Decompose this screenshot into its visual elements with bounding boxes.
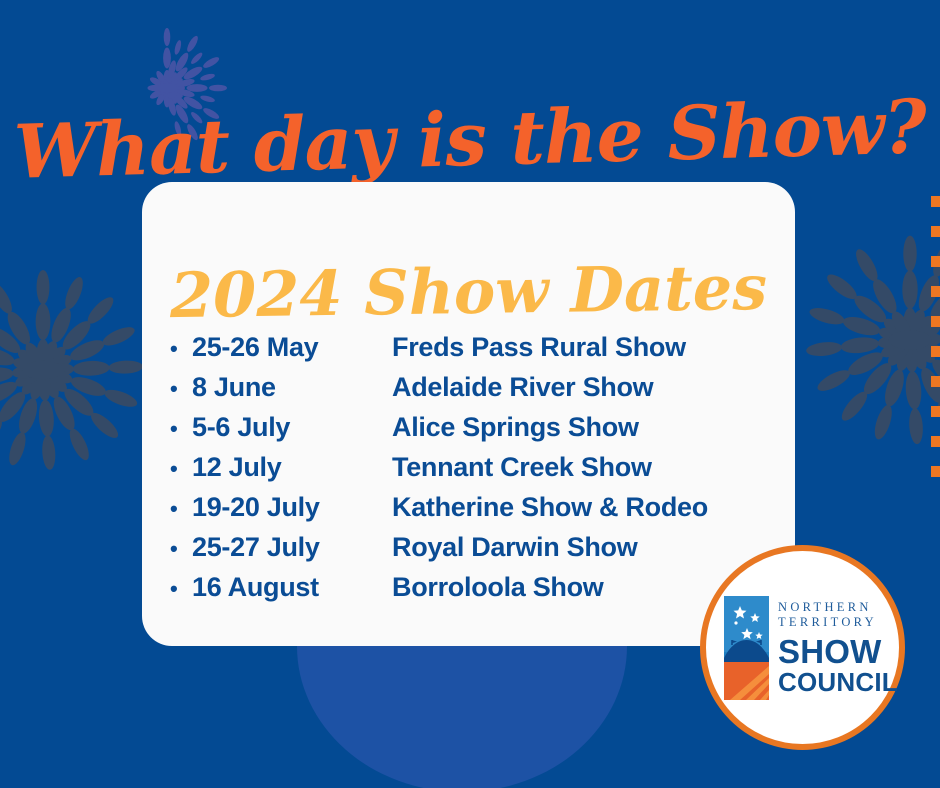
firework-burst-icon: [790, 215, 940, 465]
list-item: • 8 June Adelaide River Show: [170, 372, 790, 412]
show-date: 8 June: [192, 372, 392, 403]
list-item: • 25-26 May Freds Pass Rural Show: [170, 332, 790, 372]
show-date: 19-20 July: [192, 492, 392, 523]
show-name: Tennant Creek Show: [392, 452, 790, 483]
logo-line-territory: TERRITORY: [778, 616, 898, 629]
show-name: Royal Darwin Show: [392, 532, 790, 563]
list-item: • 16 August Borroloola Show: [170, 572, 790, 612]
bullet-icon: •: [170, 538, 192, 560]
bullet-icon: •: [170, 418, 192, 440]
bullet-icon: •: [170, 578, 192, 600]
list-item: • 5-6 July Alice Springs Show: [170, 412, 790, 452]
logo-line-show: SHOW: [778, 635, 898, 668]
firework-burst-icon: [0, 250, 158, 490]
logo-wordmark: NORTHERN TERRITORY SHOW COUNCIL: [778, 601, 898, 695]
logo-line-northern: NORTHERN: [778, 601, 898, 614]
dates-card: 2024 Show Dates • 25-26 May Freds Pass R…: [142, 182, 795, 646]
show-date: 16 August: [192, 572, 392, 603]
show-dates-list: • 25-26 May Freds Pass Rural Show • 8 Ju…: [170, 332, 790, 612]
show-name: Adelaide River Show: [392, 372, 790, 403]
poster-canvas: What day is the Show? 2024 Show Dates • …: [0, 0, 940, 788]
list-item: • 12 July Tennant Creek Show: [170, 452, 790, 492]
show-date: 12 July: [192, 452, 392, 483]
show-date: 25-27 July: [192, 532, 392, 563]
show-pavilion-emblem-icon: [724, 596, 769, 700]
show-name: Alice Springs Show: [392, 412, 790, 443]
card-title: 2024 Show Dates: [142, 257, 796, 328]
show-date: 25-26 May: [192, 332, 392, 363]
nt-show-council-logo: NORTHERN TERRITORY SHOW COUNCIL: [700, 545, 905, 750]
list-item: • 25-27 July Royal Darwin Show: [170, 532, 790, 572]
page-title: What day is the Show?: [0, 88, 940, 192]
logo-line-council: COUNCIL: [778, 669, 898, 695]
show-name: Freds Pass Rural Show: [392, 332, 790, 363]
list-item: • 19-20 July Katherine Show & Rodeo: [170, 492, 790, 532]
orange-dash-strip: [931, 196, 940, 496]
bullet-icon: •: [170, 458, 192, 480]
show-name: Katherine Show & Rodeo: [392, 492, 790, 523]
bullet-icon: •: [170, 338, 192, 360]
show-date: 5-6 July: [192, 412, 392, 443]
bullet-icon: •: [170, 498, 192, 520]
bullet-icon: •: [170, 378, 192, 400]
